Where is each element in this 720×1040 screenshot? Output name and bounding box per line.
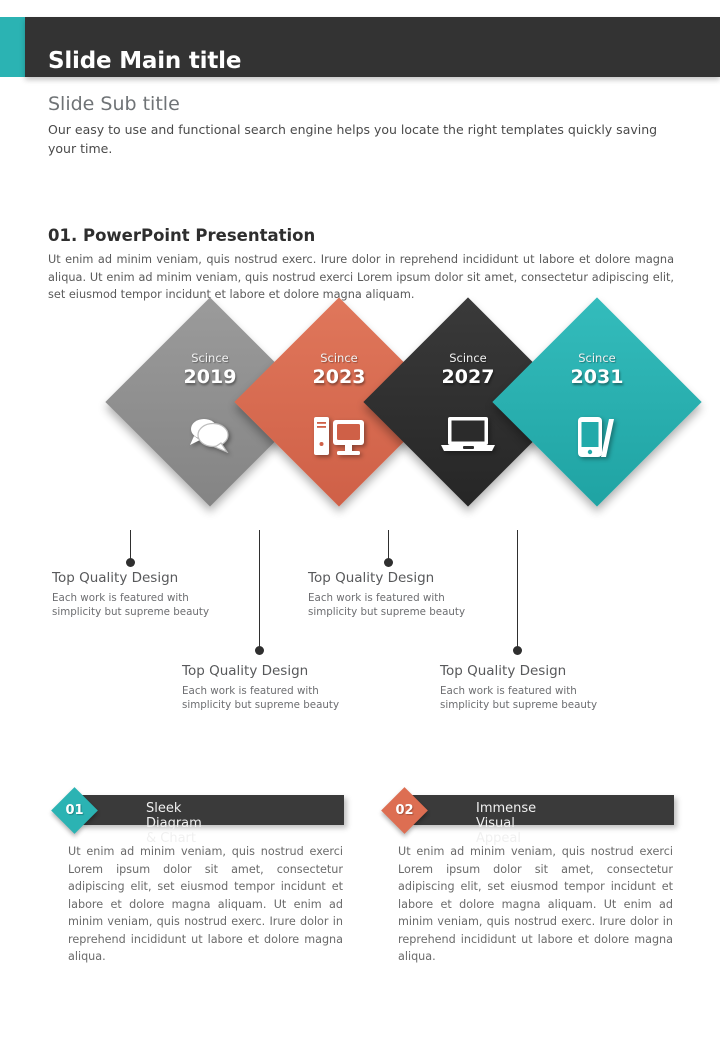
chat-bubbles-icon xyxy=(184,415,236,453)
connector-dot-2 xyxy=(255,646,264,655)
feature-body-1: Ut enim ad minim veniam, quis nostrud ex… xyxy=(68,843,343,966)
callout-title: Top Quality Design xyxy=(182,662,382,680)
feature-number-diamond-1[interactable]: 01 xyxy=(51,787,98,834)
feature-title-2: Immense Visual Appeal xyxy=(476,801,536,846)
callout-title: Top Quality Design xyxy=(308,569,508,587)
slide-header: Slide Main title xyxy=(0,17,720,77)
diamond-card-content: Scince 2031 xyxy=(523,328,671,476)
callout-description: Each work is featured with simplicity bu… xyxy=(182,684,347,712)
feature-number-diamond-2[interactable]: 02 xyxy=(381,787,428,834)
callout-description: Each work is featured with simplicity bu… xyxy=(52,591,217,619)
feature-banner-bar-2 xyxy=(411,795,674,825)
diamond-year: 2027 xyxy=(442,365,495,389)
page-title: Slide Main title xyxy=(48,48,241,74)
diamond-year: 2023 xyxy=(313,365,366,389)
feature-number-label: 02 xyxy=(388,794,421,827)
callout-2: Top Quality Design Each work is featured… xyxy=(182,662,382,712)
callout-title: Top Quality Design xyxy=(52,569,252,587)
section-body-text: Ut enim ad minim veniam, quis nostrud ex… xyxy=(48,251,674,304)
section-title: 01. PowerPoint Presentation xyxy=(48,226,315,245)
feature-title-1: Sleek Diagram & Chart xyxy=(146,801,202,846)
header-accent-bar xyxy=(0,17,25,77)
connector-dot-4 xyxy=(513,646,522,655)
laptop-icon xyxy=(439,415,497,453)
slide-subtitle-description: Our easy to use and functional search en… xyxy=(48,120,673,158)
connector-dot-1 xyxy=(126,558,135,567)
callout-4: Top Quality Design Each work is featured… xyxy=(440,662,640,712)
diamond-card-2031[interactable]: Scince 2031 xyxy=(492,297,701,506)
feature-body-2: Ut enim ad minim veniam, quis nostrud ex… xyxy=(398,843,673,966)
smartphone-icon xyxy=(574,415,620,459)
callout-title: Top Quality Design xyxy=(440,662,640,680)
diamond-since-label: Scince xyxy=(191,352,229,365)
feature-number-label: 01 xyxy=(58,794,91,827)
callout-description: Each work is featured with simplicity bu… xyxy=(440,684,605,712)
callout-1: Top Quality Design Each work is featured… xyxy=(52,569,252,619)
feature-banner-bar-1 xyxy=(81,795,344,825)
connector-line-4 xyxy=(517,530,518,650)
callout-description: Each work is featured with simplicity bu… xyxy=(308,591,473,619)
diamond-year: 2019 xyxy=(184,365,237,389)
desktop-computer-icon xyxy=(312,415,366,457)
diamond-year: 2031 xyxy=(571,365,624,389)
connector-dot-3 xyxy=(384,558,393,567)
slide-canvas: Slide Main title Slide Sub title Our eas… xyxy=(0,0,720,1040)
timeline-diamond-diagram: Scince 2019 Scince 2023 xyxy=(0,300,720,570)
slide-subtitle: Slide Sub title xyxy=(48,93,180,115)
diamond-since-label: Scince xyxy=(578,352,616,365)
connector-line-2 xyxy=(259,530,260,650)
diamond-since-label: Scince xyxy=(320,352,358,365)
callout-3: Top Quality Design Each work is featured… xyxy=(308,569,508,619)
diamond-since-label: Scince xyxy=(449,352,487,365)
